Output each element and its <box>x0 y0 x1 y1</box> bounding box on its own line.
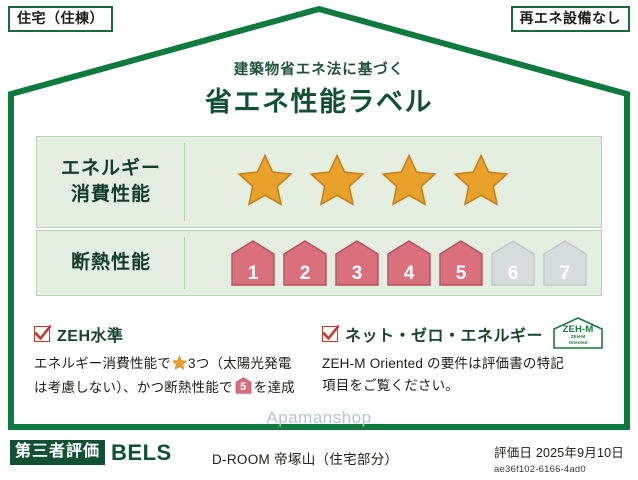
grade-number: 4 <box>385 264 433 283</box>
star-icon-inline <box>172 355 187 377</box>
net-zero-energy-title: ネット・ゼロ・エネルギー <box>345 322 543 346</box>
grade-badge-number: 5 <box>235 382 252 393</box>
sub-heading: 建築物省エネ法に基づく <box>0 58 638 79</box>
energy-performance-label: 住宅（住棟） 再エネ設備なし 建築物省エネ法に基づく 省エネ性能ラベル エネルギ… <box>0 0 638 480</box>
grade-badge-inline: 5 <box>235 377 252 394</box>
star-icon-filled-4 <box>453 153 509 212</box>
star-icon-filled-1 <box>237 153 293 212</box>
building-title: D-ROOM 帝塚山（住宅部分） <box>212 448 398 468</box>
zeh-standard-body: エネルギー消費性能で3つ（太陽光発電 は考慮しない）、かつ断熱性能で5を達成 <box>34 353 312 400</box>
bels-badge-label: 第三者評価 <box>10 440 105 465</box>
zeh-m-logo-icon: ZEH-M ZEH-M Oriented <box>552 316 604 350</box>
star-rating <box>237 153 509 212</box>
zeh-m-logo-subtext: ZEH-M Oriented <box>552 334 604 345</box>
zeh-body-part2: 3つ（太陽光発電 <box>188 356 292 371</box>
insulation-performance-row: 断熱性能 1 2 <box>36 230 602 296</box>
zeh-body-part3: は考慮しない）、かつ断熱性能で <box>34 380 233 395</box>
grade-number: 7 <box>541 264 589 283</box>
tag-building-type-label: 住宅（住棟） <box>17 10 104 26</box>
energy-performance-body <box>185 137 601 227</box>
checkbox-checked-icon <box>322 326 338 342</box>
zeh-m-logo-sub-line1: ZEH-M <box>571 334 586 339</box>
insulation-label: 断熱性能 <box>71 250 151 276</box>
evaluation-date-label: 評価日 <box>494 446 532 460</box>
star-icon-filled-2 <box>309 153 365 212</box>
grade-number: 3 <box>333 264 381 283</box>
zeh-standard-title: ZEH水準 <box>57 322 124 346</box>
tag-renewable-energy: 再エネ設備なし <box>511 6 631 32</box>
bels-logo: 第三者評価 BELS <box>10 440 172 465</box>
grade-marker-3: 3 <box>333 239 381 287</box>
grade-marker-4: 4 <box>385 239 433 287</box>
evaluation-id: ae36f102-6166-4ad0 <box>494 464 624 475</box>
net-zero-body-line2: 項目をご覧ください。 <box>322 375 612 397</box>
grade-number: 6 <box>489 264 537 283</box>
tag-renewable-energy-label: 再エネ設備なし <box>520 10 622 26</box>
zeh-body-part4: を達成 <box>254 380 295 395</box>
grade-marker-1: 1 <box>229 239 277 287</box>
net-zero-energy-body: ZEH-M Oriented の要件は評価書の特記 項目をご覧ください。 <box>322 353 612 398</box>
tag-building-type: 住宅（住棟） <box>8 6 113 32</box>
net-zero-energy-section: ネット・ゼロ・エネルギー ZEH-M Oriented の要件は評価書の特記 項… <box>322 322 612 398</box>
performance-table: エネルギー 消費性能 <box>36 136 602 296</box>
zeh-standard-section: ZEH水準 エネルギー消費性能で3つ（太陽光発電 は考慮しない）、かつ断熱性能で… <box>34 322 312 400</box>
insulation-performance-body: 1 2 3 <box>185 231 601 295</box>
evaluation-date-line: 評価日 2025年9月10日 <box>494 442 624 461</box>
star-icon-filled-3 <box>381 153 437 212</box>
bels-word-label: BELS <box>111 442 172 464</box>
grade-marker-5: 5 <box>437 239 485 287</box>
insulation-performance-label-cell: 断熱性能 <box>37 231 185 295</box>
grade-marker-6: 6 <box>489 239 537 287</box>
energy-performance-label-cell: エネルギー 消費性能 <box>37 137 185 227</box>
energy-performance-row: エネルギー 消費性能 <box>36 136 602 228</box>
grade-marker-7: 7 <box>541 239 589 287</box>
zeh-m-logo-sub-line2: Oriented <box>569 340 588 345</box>
zeh-body-part1: エネルギー消費性能で <box>34 356 171 371</box>
grade-number: 1 <box>229 264 277 283</box>
grade-number: 2 <box>281 264 329 283</box>
zeh-standard-header: ZEH水準 <box>34 322 312 346</box>
grade-number: 5 <box>437 264 485 283</box>
insulation-grade-scale: 1 2 3 <box>229 239 589 287</box>
footer: 第三者評価 BELS D-ROOM 帝塚山（住宅部分） 評価日 2025年9月1… <box>0 434 638 480</box>
watermark: Apamanshop <box>0 408 638 428</box>
main-heading: 省エネ性能ラベル <box>0 80 638 119</box>
evaluation-date-value: 2025年9月10日 <box>536 446 624 460</box>
energy-label-line2: 消費性能 <box>71 182 151 208</box>
energy-label-line1: エネルギー <box>61 156 161 182</box>
net-zero-body-line1: ZEH-M Oriented の要件は評価書の特記 <box>322 353 612 375</box>
checkbox-checked-icon <box>34 326 50 342</box>
evaluation-meta: 評価日 2025年9月10日 ae36f102-6166-4ad0 <box>494 442 624 475</box>
grade-marker-2: 2 <box>281 239 329 287</box>
